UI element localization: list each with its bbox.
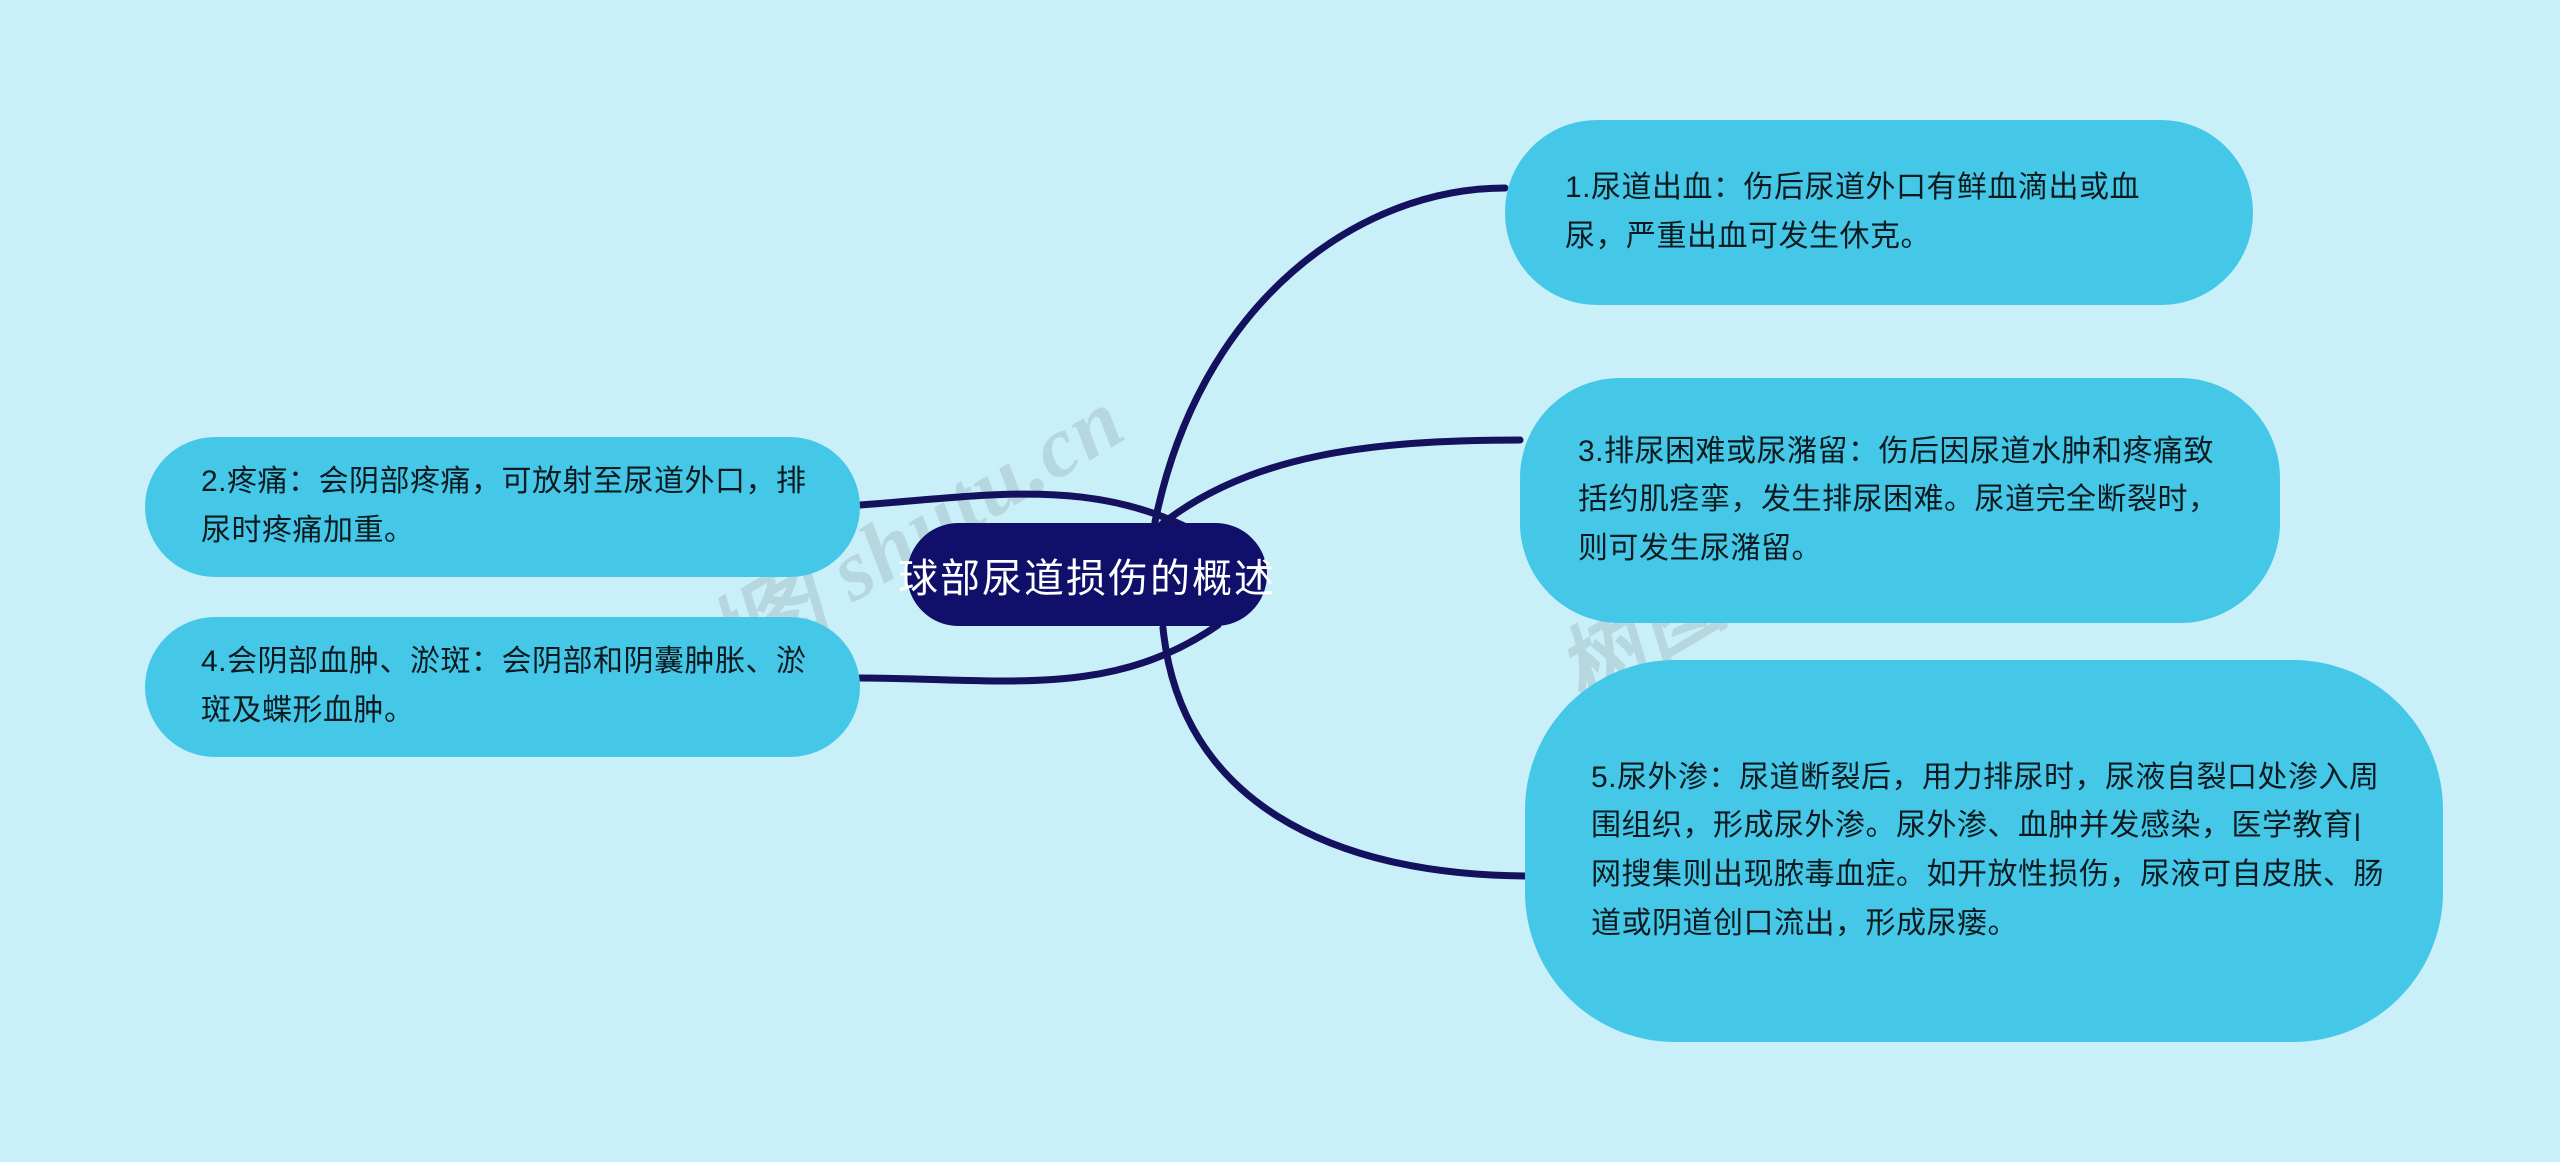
branch-node-5[interactable]: 5.尿外渗：尿道断裂后，用力排尿时，尿液自裂口处渗入周围组织，形成尿外渗。尿外渗… (1525, 660, 2443, 1042)
branch-node-1[interactable]: 1.尿道出血：伤后尿道外口有鲜血滴出或血尿，严重出血可发生休克。 (1505, 120, 2253, 305)
branch-node-2-label: 2.疼痛：会阴部疼痛，可放射至尿道外口，排尿时疼痛加重。 (201, 458, 816, 555)
connector-to-node-3 (1162, 440, 1520, 524)
branch-node-5-label: 5.尿外渗：尿道断裂后，用力排尿时，尿液自裂口处渗入周围组织，形成尿外渗。尿外渗… (1591, 754, 2391, 948)
branch-node-2[interactable]: 2.疼痛：会阴部疼痛，可放射至尿道外口，排尿时疼痛加重。 (145, 437, 860, 577)
branch-node-4[interactable]: 4.会阴部血肿、淤斑：会阴部和阴囊肿胀、淤斑及蝶形血肿。 (145, 617, 860, 757)
branch-node-1-label: 1.尿道出血：伤后尿道外口有鲜血滴出或血尿，严重出血可发生休克。 (1565, 164, 2201, 261)
connector-to-node-5 (1163, 628, 1530, 876)
branch-node-4-label: 4.会阴部血肿、淤斑：会阴部和阴囊肿胀、淤斑及蝶形血肿。 (201, 638, 816, 735)
connector-to-node-1 (1155, 188, 1505, 522)
mindmap-canvas: 树图 shutu.cn 树图 shutu.cn 1.尿道出血：伤后尿道外口有鲜血… (0, 0, 2560, 1162)
branch-node-3[interactable]: 3.排尿困难或尿潴留：伤后因尿道水肿和疼痛致括约肌痉挛，发生排尿困难。尿道完全断… (1520, 378, 2280, 623)
connector-to-node-4 (860, 625, 1218, 681)
central-node[interactable]: 球部尿道损伤的概述 (907, 523, 1267, 626)
central-node-label: 球部尿道损伤的概述 (898, 546, 1276, 604)
branch-node-3-label: 3.排尿困难或尿潴留：伤后因尿道水肿和疼痛致括约肌痉挛，发生排尿困难。尿道完全断… (1578, 428, 2232, 574)
